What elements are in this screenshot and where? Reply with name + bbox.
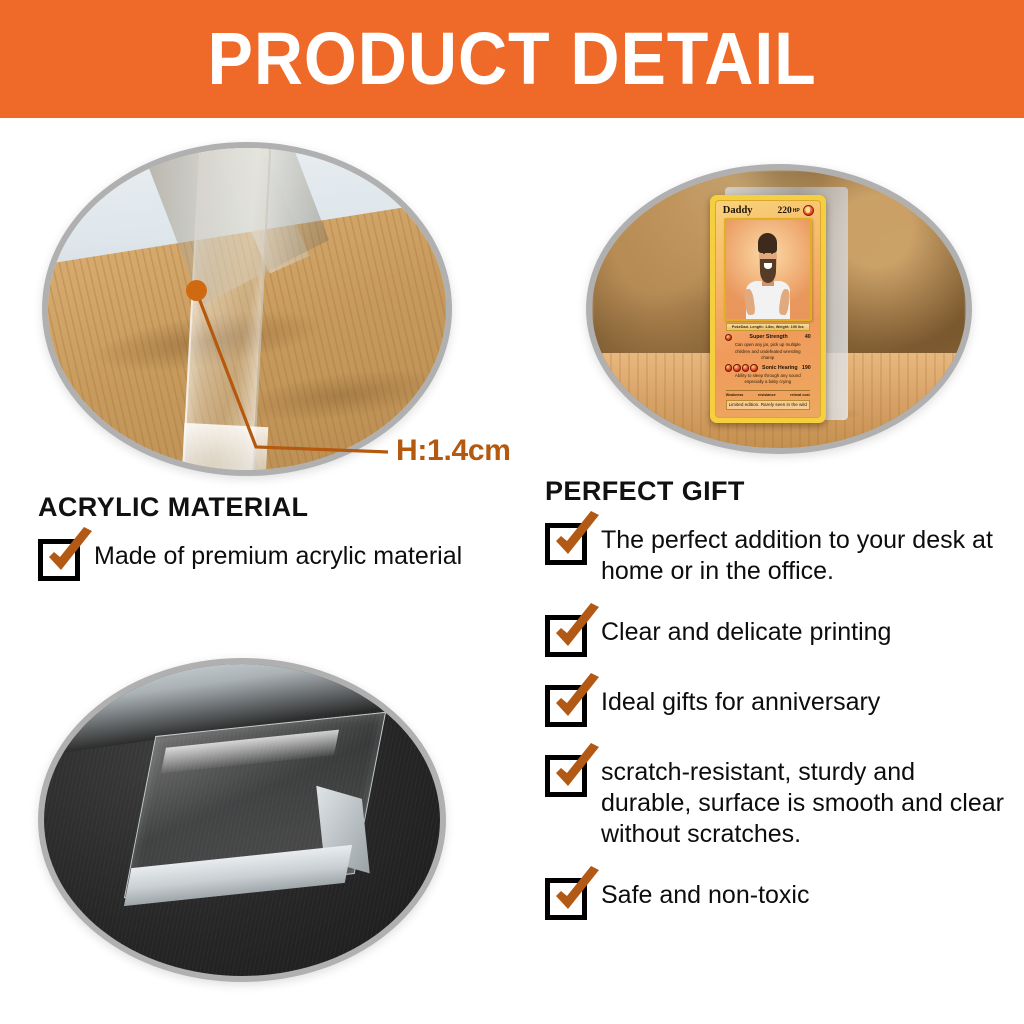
page-header-banner: PRODUCT DETAIL	[0, 0, 1024, 118]
feature-text: The perfect addition to your desk at hom…	[601, 521, 1005, 587]
attack-2-row: Sonic Hearing 190	[725, 364, 811, 372]
attack-1-description: Can open any jar, pick up multiple child…	[725, 342, 811, 361]
trading-card: Daddy 220 HP	[710, 195, 826, 423]
checkmark-glyph	[547, 673, 607, 731]
attack-2-name: Sonic Hearing	[761, 365, 799, 371]
checkmark-glyph	[547, 511, 607, 569]
checkmark-icon	[545, 878, 587, 920]
attack-2-damage: 190	[802, 365, 811, 371]
perfect-gift-section: PERFECT GIFT The perfect addition to you…	[545, 476, 1005, 946]
card-weakness-label: Weakness	[726, 393, 744, 397]
fire-energy-icon	[733, 364, 741, 372]
feature-list-item: scratch-resistant, sturdy and durable, s…	[545, 753, 1005, 850]
acrylic-material-heading: ACRYLIC MATERIAL	[38, 492, 518, 523]
card-name: Daddy	[723, 205, 753, 216]
card-hp-label: HP	[793, 208, 800, 214]
card-species-line: PokéDad. Length: 1.8m, Weight: 190 lbs	[726, 323, 810, 331]
checkmark-glyph	[547, 866, 607, 924]
checkmark-glyph	[547, 603, 607, 661]
product-photo-card-on-desk: Daddy 220 HP	[586, 164, 972, 454]
acrylic-material-section: ACRYLIC MATERIAL Made of premium acrylic…	[38, 492, 518, 607]
height-callout-label: H:1.4cm	[396, 434, 511, 468]
feature-text: Ideal gifts for anniversary	[601, 683, 880, 718]
feature-list-item: The perfect addition to your desk at hom…	[545, 521, 1005, 587]
product-photo-acrylic-edge	[42, 142, 452, 476]
checkmark-icon	[545, 523, 587, 565]
page-title: PRODUCT DETAIL	[207, 22, 816, 96]
checkmark-icon	[545, 685, 587, 727]
card-flavour-text: Limited edition. Rarely seen in the wild	[726, 400, 810, 410]
fire-energy-icon	[803, 205, 814, 216]
desk-bokeh-scene: Daddy 220 HP	[592, 170, 966, 448]
card-retreat-cost-label: retreat cost	[790, 393, 810, 397]
attack-1-damage: 40	[805, 334, 811, 340]
card-attack-2: Sonic Hearing 190 Ability to sleep throu…	[725, 364, 811, 385]
checkmark-icon	[38, 539, 80, 581]
card-hp-value: 220	[778, 206, 792, 216]
card-header: Daddy 220 HP	[720, 204, 816, 216]
feature-list-item: Made of premium acrylic material	[38, 537, 518, 581]
callout-dot-icon	[186, 280, 207, 301]
card-attack-1: Super Strength 40 Can open any jar, pick…	[725, 334, 811, 362]
attack-2-energy-icons	[725, 364, 758, 372]
feature-list-item: Safe and non-toxic	[545, 876, 1005, 920]
card-hp-group: 220 HP	[778, 205, 814, 216]
wood-table-scene	[48, 148, 446, 470]
checkmark-icon	[545, 615, 587, 657]
feature-text: Safe and non-toxic	[601, 876, 809, 911]
feature-text: Made of premium acrylic material	[94, 537, 462, 572]
fire-energy-icon	[750, 364, 758, 372]
person-hair	[758, 233, 777, 253]
card-resistance-label: resistance	[758, 393, 776, 397]
checkmark-glyph	[547, 743, 607, 801]
card-footer-stats: Weakness resistance retreat cost	[726, 390, 810, 397]
acrylic-base-highlight	[182, 423, 268, 476]
portrait-person	[726, 220, 810, 319]
fire-energy-icon	[742, 364, 750, 372]
feature-list-item: Ideal gifts for anniversary	[545, 683, 1005, 727]
person-smile	[764, 263, 772, 269]
fire-energy-icon	[725, 334, 733, 342]
attack-1-energy-icons	[725, 334, 733, 342]
trading-card-face: Daddy 220 HP	[715, 200, 821, 418]
card-portrait	[724, 218, 812, 321]
feature-text: Clear and delicate printing	[601, 613, 891, 648]
attack-1-name: Super Strength	[735, 334, 802, 340]
checkmark-icon	[545, 755, 587, 797]
attack-1-row: Super Strength 40	[725, 334, 811, 342]
perfect-gift-heading: PERFECT GIFT	[545, 476, 1005, 507]
checkmark-glyph	[40, 527, 100, 585]
fire-energy-icon	[725, 364, 733, 372]
product-photo-block-on-slate	[38, 658, 446, 982]
attack-2-description: Ability to sleep through any sound espec…	[725, 373, 811, 386]
feature-list-item: Clear and delicate printing	[545, 613, 1005, 657]
feature-text: scratch-resistant, sturdy and durable, s…	[601, 753, 1005, 850]
slate-scene	[44, 664, 440, 976]
